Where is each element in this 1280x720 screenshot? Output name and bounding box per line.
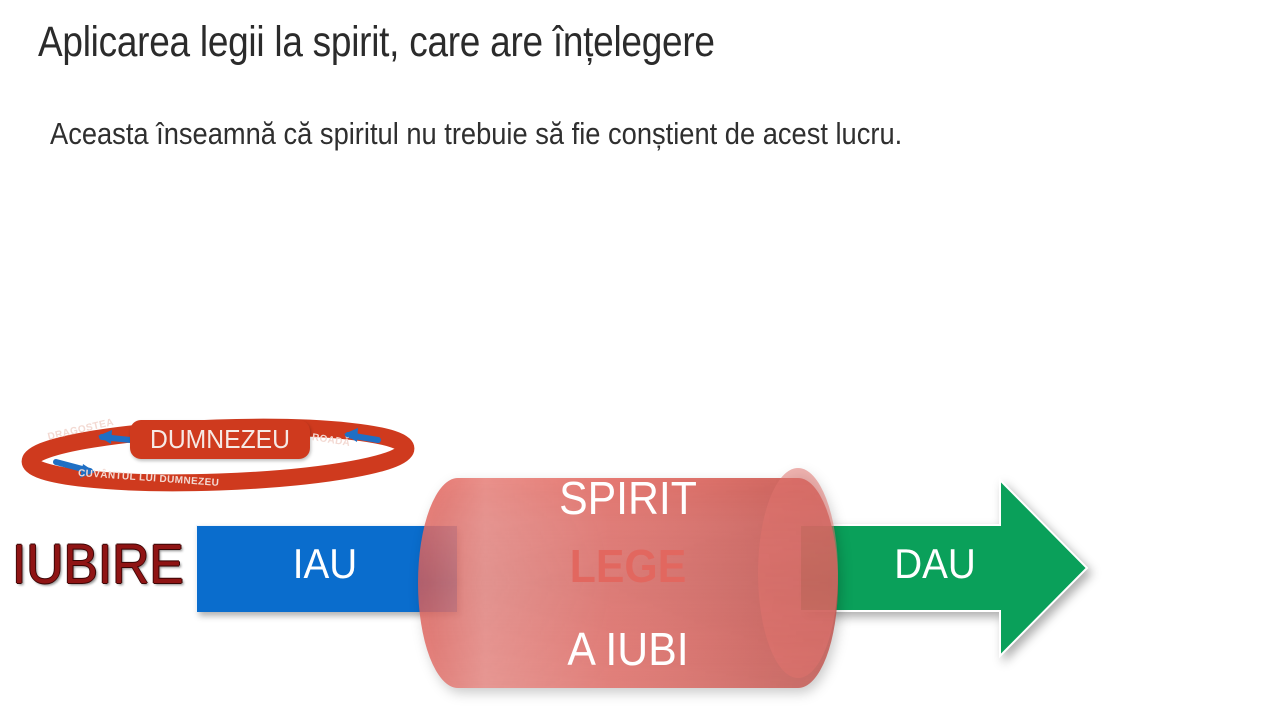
cylinder-label-a-iubi: A IUBI [433,622,824,676]
cylinder-label-spirit: SPIRIT [433,471,824,525]
cylinder-label-lege: LEGE [433,539,824,593]
dau-label: DAU [866,540,1004,588]
iau-label: IAU [256,540,394,588]
iubire-label: IUBIRE [12,531,184,596]
slide-canvas: Aplicarea legii la spirit, care are înțe… [0,0,1280,720]
diagram-group: DUMNEZEU DRAGOSTEA ROADĂ CUVÂNTUL LUI DU… [0,0,1280,720]
dumnezeu-label: DUMNEZEU [135,424,306,455]
